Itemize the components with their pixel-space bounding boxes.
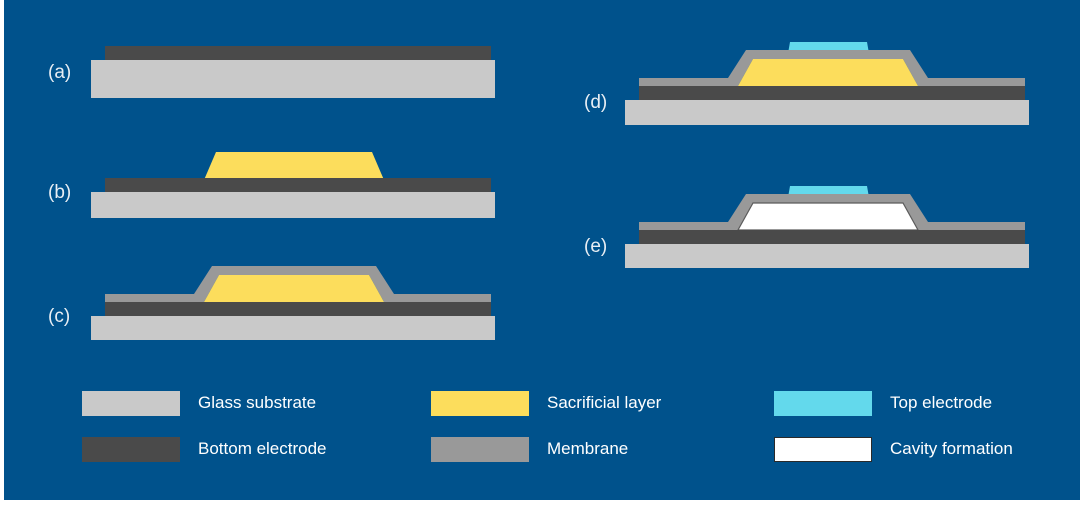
legend-label-top-electrode: Top electrode xyxy=(890,393,992,413)
legend-item-cavity-formation: Cavity formation xyxy=(774,436,1013,462)
figure-canvas: (a) (b) xyxy=(4,0,1080,500)
sacrificial-layer-swatch xyxy=(431,391,529,416)
legend-item-membrane: Membrane xyxy=(431,436,628,462)
cavity-formation-swatch xyxy=(774,437,872,462)
panel-a-stack xyxy=(88,38,508,108)
glass-substrate-layer xyxy=(91,60,495,98)
legend-item-bottom-electrode: Bottom electrode xyxy=(82,436,327,462)
panel-d: (d) xyxy=(544,30,1064,125)
legend-column-3: Top electrode Cavity formation xyxy=(774,384,1080,479)
cavity-formation-shape xyxy=(738,203,918,230)
panel-a-svg xyxy=(88,38,508,108)
legend-item-glass-substrate: Glass substrate xyxy=(82,390,316,416)
legend-column-2: Sacrificial layer Membrane xyxy=(431,384,761,479)
legend-label-membrane: Membrane xyxy=(547,439,628,459)
sacrificial-layer-shape xyxy=(204,152,384,180)
panel-d-label: (d) xyxy=(584,92,607,114)
bottom-electrode-layer xyxy=(105,46,491,60)
bottom-electrode-layer xyxy=(639,230,1025,244)
glass-substrate-layer xyxy=(625,244,1029,268)
bottom-electrode-layer xyxy=(105,302,491,316)
legend-label-bottom-electrode: Bottom electrode xyxy=(198,439,327,459)
panel-d-stack xyxy=(622,30,1042,125)
glass-substrate-layer xyxy=(625,100,1029,125)
panel-c-label: (c) xyxy=(48,306,70,328)
panel-c-svg xyxy=(88,258,508,340)
panel-c: (c) xyxy=(4,258,524,340)
sacrificial-layer-shape xyxy=(738,59,918,86)
panel-e: (e) xyxy=(544,178,1064,268)
panel-b-label: (b) xyxy=(48,182,71,204)
legend-label-cavity-formation: Cavity formation xyxy=(890,439,1013,459)
legend-item-top-electrode: Top electrode xyxy=(774,390,992,416)
glass-substrate-layer xyxy=(91,192,495,218)
bottom-electrode-layer xyxy=(105,178,491,192)
panel-a-label: (a) xyxy=(48,62,71,84)
bottom-electrode-swatch xyxy=(82,437,180,462)
legend-column-1: Glass substrate Bottom electrode xyxy=(82,384,412,479)
legend-label-glass-substrate: Glass substrate xyxy=(198,393,316,413)
panel-d-svg xyxy=(622,30,1042,125)
membrane-swatch xyxy=(431,437,529,462)
glass-substrate-swatch xyxy=(82,391,180,416)
legend: Glass substrate Bottom electrode Sacrifi… xyxy=(4,384,1080,479)
panel-e-svg xyxy=(622,178,1042,268)
legend-item-sacrificial-layer: Sacrificial layer xyxy=(431,390,661,416)
panel-e-stack xyxy=(622,178,1042,268)
panel-b-svg xyxy=(88,140,508,218)
panel-b-stack xyxy=(88,140,508,218)
sacrificial-layer-shape xyxy=(204,275,384,302)
panel-e-label: (e) xyxy=(584,236,607,258)
legend-label-sacrificial-layer: Sacrificial layer xyxy=(547,393,661,413)
panel-a: (a) xyxy=(4,38,524,108)
top-electrode-swatch xyxy=(774,391,872,416)
mems-process-figure: (a) (b) xyxy=(0,0,1080,506)
panel-c-stack xyxy=(88,258,508,340)
bottom-electrode-layer xyxy=(639,86,1025,100)
glass-substrate-layer xyxy=(91,316,495,340)
panel-b: (b) xyxy=(4,140,524,218)
